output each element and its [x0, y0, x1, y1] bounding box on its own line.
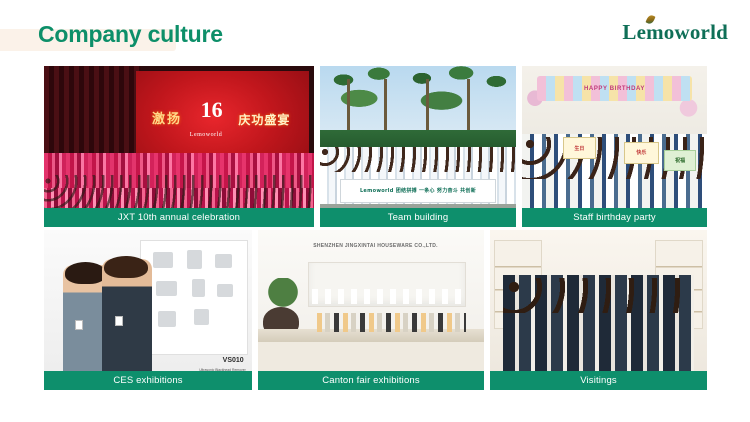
photo-staff-birthday: HAPPY BIRTHDAY 生日 快乐 祝福: [522, 66, 707, 227]
brand-logo: Lemoworld: [622, 20, 728, 45]
photo-team-building: Lemoworld 团结拼搏 一条心 努力奋斗 共创新: [320, 66, 516, 227]
caption-text: Canton fair exhibitions: [322, 375, 419, 386]
gallery-tile-ces-exhibitions[interactable]: VS010 Ultrasonic Blackhead Remover CES e…: [44, 230, 252, 390]
photo-ces-exhibitions: VS010 Ultrasonic Blackhead Remover: [44, 230, 252, 390]
photo-text-number: 16: [201, 97, 223, 123]
caption-text: Visitings: [580, 375, 617, 386]
caption-bar: Visitings: [490, 371, 707, 390]
caption-text: JXT 10th annual celebration: [118, 212, 240, 223]
gallery-tile-team-building[interactable]: Lemoworld 团结拼搏 一条心 努力奋斗 共创新 Team buildin…: [320, 66, 516, 227]
photo-jxt-anniversary: 激扬 16 庆功盛宴 Lemoworld: [44, 66, 314, 227]
caption-bar: Team building: [320, 208, 516, 227]
gallery-tile-staff-birthday[interactable]: HAPPY BIRTHDAY 生日 快乐 祝福 Staff birthday p…: [522, 66, 707, 227]
photo-text-booth-sign: SHENZHEN JINGXINTAI HOUSEWARE CO.,LTD.: [285, 238, 466, 254]
photo-text-product-model: VS010: [223, 357, 244, 364]
photo-canton-fair: SHENZHEN JINGXINTAI HOUSEWARE CO.,LTD.: [258, 230, 484, 390]
page-title: Company culture: [38, 21, 223, 48]
caption-text: Team building: [388, 212, 449, 223]
gallery-tile-jxt-anniversary[interactable]: 激扬 16 庆功盛宴 Lemoworld JXT 10th annual cel…: [44, 66, 314, 227]
photo-text-logo: Lemoworld: [190, 132, 223, 138]
photo-text-cn-left: 激扬: [152, 108, 182, 127]
gallery-tile-canton-fair[interactable]: SHENZHEN JINGXINTAI HOUSEWARE CO.,LTD. C…: [258, 230, 484, 390]
photo-text-sign-b: 快乐: [624, 142, 659, 165]
caption-bar: Staff birthday party: [522, 208, 707, 227]
photo-visitings: [490, 230, 707, 390]
photo-text-sign-c: 祝福: [664, 150, 695, 171]
caption-bar: JXT 10th annual celebration: [44, 208, 314, 227]
photo-text-sign-a: 生日: [563, 137, 596, 160]
photo-text-banner: HAPPY BIRTHDAY: [537, 76, 692, 102]
caption-bar: CES exhibitions: [44, 371, 252, 390]
photo-text-cn-right: 庆功盛宴: [238, 111, 290, 128]
caption-bar: Canton fair exhibitions: [258, 371, 484, 390]
caption-text: Staff birthday party: [573, 212, 656, 223]
caption-text: CES exhibitions: [113, 375, 182, 386]
brand-logo-text: Lemoworld: [622, 20, 728, 44]
photo-text-banner: Lemoworld 团结拼搏 一条心 努力奋斗 共创新: [340, 179, 497, 203]
gallery-tile-visitings[interactable]: Visitings: [490, 230, 707, 390]
slide-company-culture: Company culture Lemoworld 激扬 16 庆功盛宴 Lem…: [0, 0, 750, 422]
